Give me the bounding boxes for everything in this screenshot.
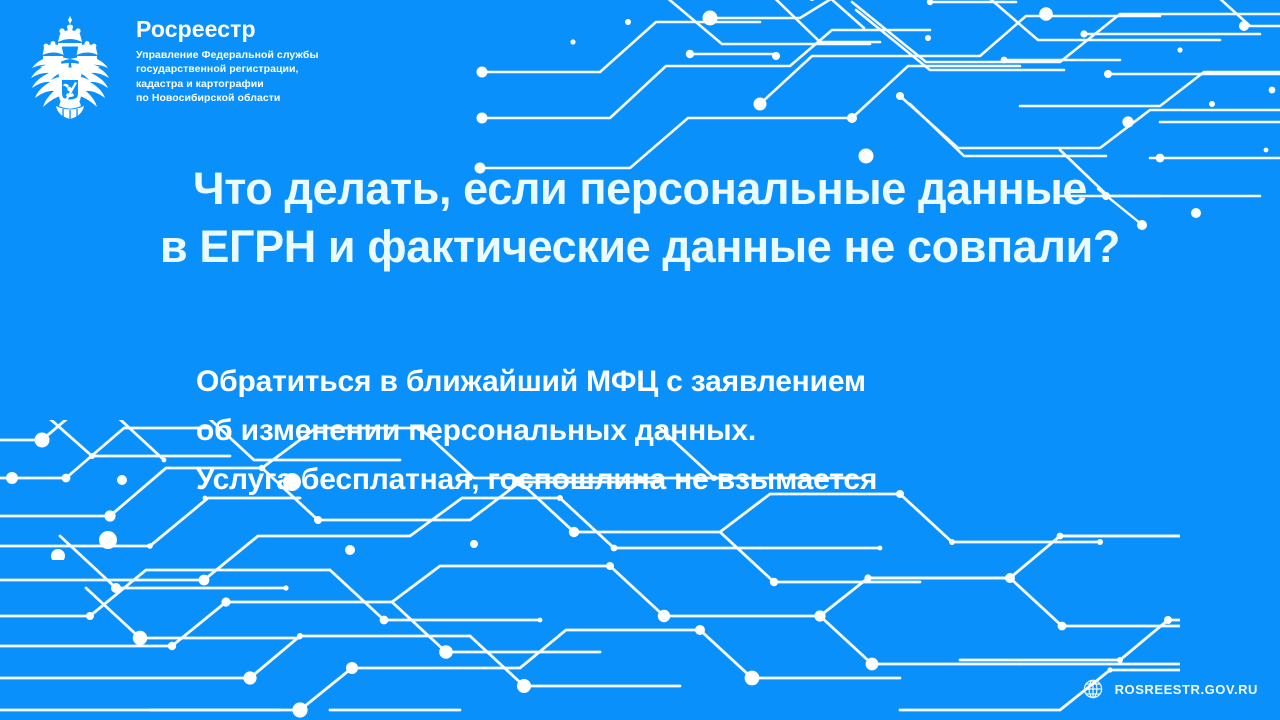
footer-url-label: ROSREESTR.GOV.RU bbox=[1115, 682, 1258, 697]
double-headed-eagle-emblem-icon bbox=[18, 14, 122, 122]
globe-icon bbox=[1082, 678, 1104, 700]
body-text-line-2: об изменении персональных данных. bbox=[196, 407, 877, 456]
brand-text-block: Росреестр Управление Федеральной службы … bbox=[136, 12, 318, 106]
body-text-line-3: Услуга бесплатная, госпошлина не взымает… bbox=[196, 456, 877, 505]
page-title-line-2: в ЕГРН и фактические данные не совпали? bbox=[0, 218, 1280, 276]
footer-website-mark: ROSREESTR.GOV.RU bbox=[1082, 678, 1258, 700]
brand-name: Росреестр bbox=[136, 18, 318, 41]
brand-subtitle-line-4: по Новосибирской области bbox=[136, 91, 318, 105]
body-text-block: Обратиться в ближайший МФЦ с заявлением … bbox=[196, 358, 877, 505]
body-text-line-1: Обратиться в ближайший МФЦ с заявлением bbox=[196, 358, 877, 407]
brand-subtitle-line-3: кадастра и картографии bbox=[136, 77, 318, 91]
brand-subtitle-line-1: Управление Федеральной службы bbox=[136, 48, 318, 62]
page-title: Что делать, если персональные данные в Е… bbox=[0, 160, 1280, 275]
slide-canvas: Росреестр Управление Федеральной службы … bbox=[0, 0, 1280, 720]
page-title-line-1: Что делать, если персональные данные bbox=[0, 160, 1280, 218]
header-logo-lockup: Росреестр Управление Федеральной службы … bbox=[18, 12, 318, 122]
brand-subtitle-line-2: государственной регистрации, bbox=[136, 62, 318, 76]
